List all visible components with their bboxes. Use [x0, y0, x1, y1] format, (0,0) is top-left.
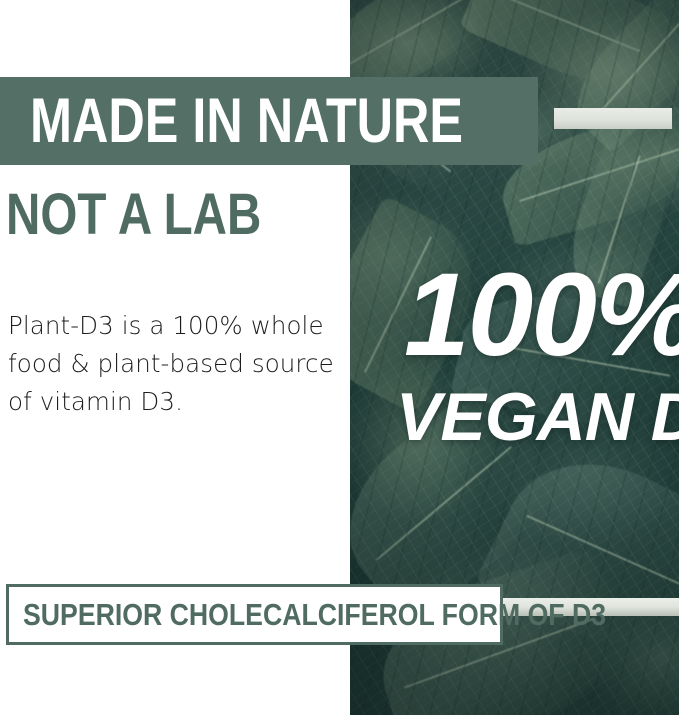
body-copy-text: Plant-D3 is a 100% whole food & plant-ba… — [8, 307, 338, 421]
product-marketing-poster: MADE IN NATURE NOT A LAB Plant-D3 is a 1… — [0, 0, 679, 715]
claim-vegan-d3-text: VEGAN D3 — [396, 383, 679, 451]
headline-text: MADE IN NATURE — [30, 90, 463, 153]
subheadline-text: NOT A LAB — [6, 186, 261, 244]
headline-green-band: MADE IN NATURE — [0, 77, 538, 165]
claim-100-percent-text: 100% — [404, 256, 679, 374]
headline-accent-bar — [554, 108, 672, 129]
bottom-banner-box: SUPERIOR CHOLECALCIFEROL FORM OF D3 — [6, 584, 503, 645]
bottom-banner-text: SUPERIOR CHOLECALCIFEROL FORM OF D3 — [23, 599, 606, 630]
